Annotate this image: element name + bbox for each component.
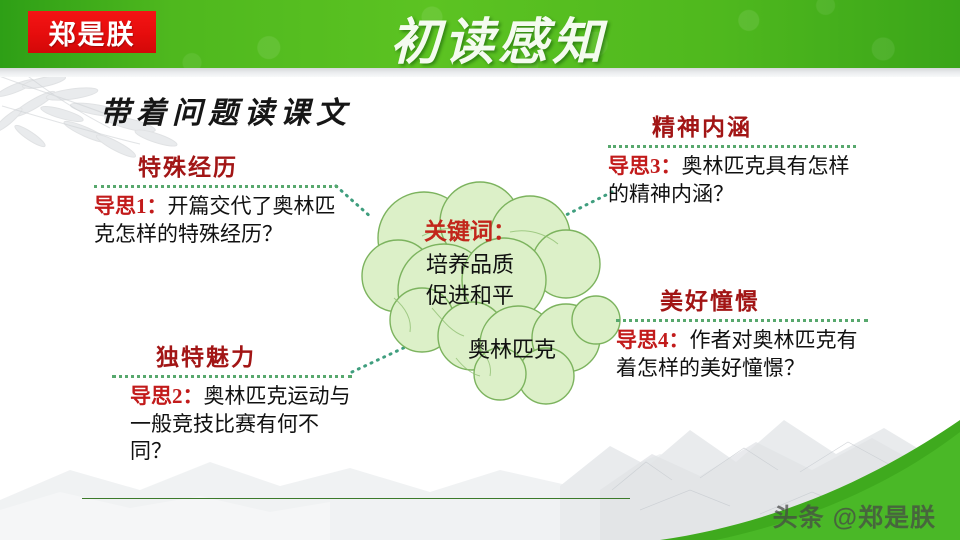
branch-lead-label-top-right: 导思3： [608, 154, 682, 178]
center-cloud-node: 关键词： 培养品质 促进和平 奥林匹克 [360, 180, 622, 410]
cloud-keyword-line-2: 促进和平 [400, 280, 540, 311]
branch-divider-top-left [94, 185, 338, 188]
branch-body-bottom-right: 导思4：作者对奥林匹克有着怎样的美好憧憬？ [616, 327, 868, 382]
cloud-keyword-block: 关键词： 培养品质 促进和平 [400, 216, 540, 311]
cloud-keyword-line-1: 培养品质 [400, 249, 540, 280]
branch-divider-bottom-left [112, 375, 352, 378]
branch-title-bottom-left: 独特魅力 [156, 338, 352, 372]
branch-bottom-right: 美好憧憬 导思4：作者对奥林匹克有着怎样的美好憧憬？ [616, 282, 868, 382]
branch-lead-label-top-left: 导思1： [94, 194, 168, 218]
branch-body-top-left: 导思1：开篇交代了奥林匹克怎样的特殊经历？ [94, 193, 338, 248]
branch-divider-top-right [608, 145, 856, 148]
branch-lead-label-bottom-right: 导思4： [616, 328, 690, 352]
branch-lead-label-bottom-left: 导思2： [130, 384, 204, 408]
footer-rule [82, 498, 630, 499]
branch-top-right: 精神内涵 导思3：奥林匹克具有怎样的精神内涵？ [608, 108, 856, 208]
branch-title-bottom-right: 美好憧憬 [660, 282, 868, 316]
logo-badge: 郑是朕 [28, 11, 156, 53]
branch-body-bottom-left: 导思2：奥林匹克运动与一般竞技比赛有何不同？ [130, 383, 352, 466]
branch-body-top-right: 导思3：奥林匹克具有怎样的精神内涵？ [608, 153, 856, 208]
branch-divider-bottom-right [616, 319, 868, 322]
subtitle: 带着问题读课文 [100, 88, 352, 132]
branch-bottom-left: 独特魅力 导思2：奥林匹克运动与一般竞技比赛有何不同？ [112, 338, 352, 466]
cloud-topic: 奥林匹克 [468, 332, 556, 364]
slide-canvas: 郑是朕 初读感知 带着问题读课文 [0, 0, 960, 540]
cloud-keyword-label: 关键词： [400, 216, 540, 249]
author-watermark: 头条 @郑是朕 [773, 498, 936, 534]
branch-top-left: 特殊经历 导思1：开篇交代了奥林匹克怎样的特殊经历？ [94, 148, 338, 248]
page-title: 初读感知 [348, 2, 648, 74]
branch-title-top-right: 精神内涵 [652, 108, 856, 142]
branch-title-top-left: 特殊经历 [138, 148, 338, 182]
